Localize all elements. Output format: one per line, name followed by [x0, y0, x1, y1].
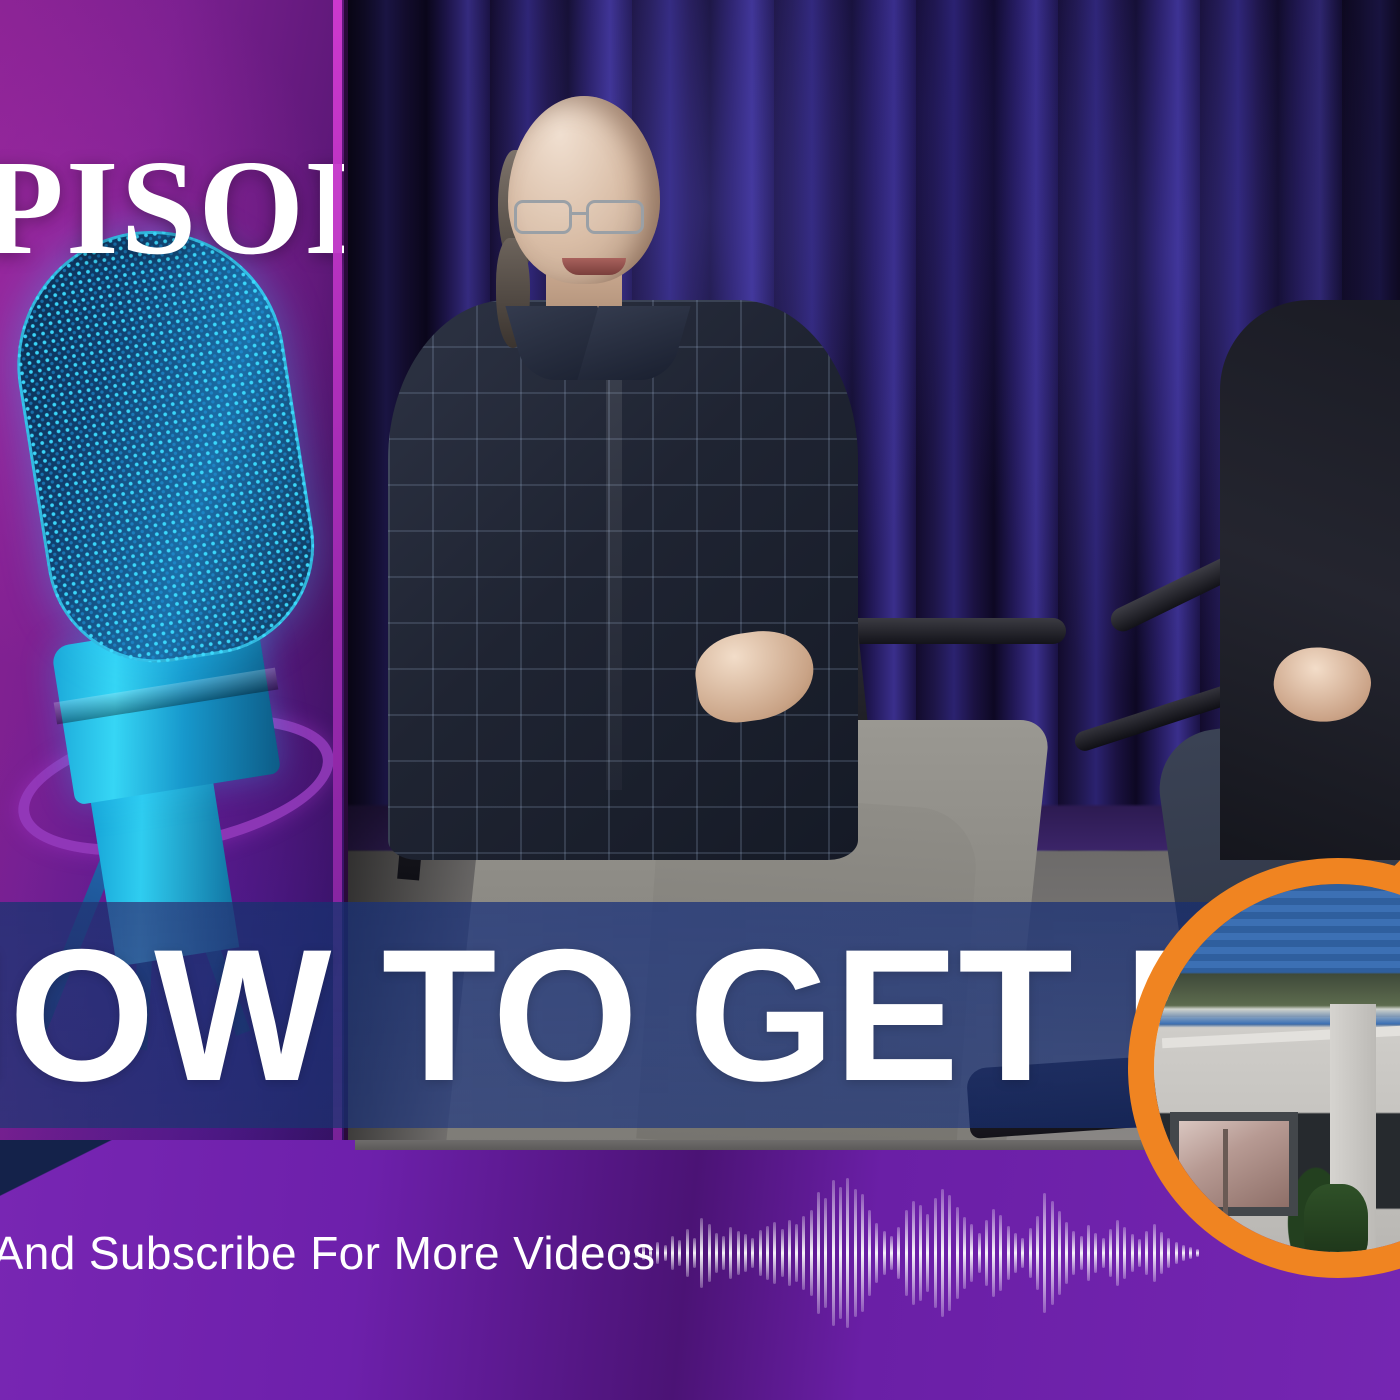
waveform-bar: [656, 1242, 659, 1264]
waveform-bar: [708, 1224, 711, 1282]
waveform-bar: [686, 1229, 689, 1277]
waveform-bar: [737, 1231, 740, 1275]
waveform-bar: [1021, 1238, 1024, 1268]
waveform-bar: [1036, 1216, 1039, 1290]
waveform-bar: [671, 1236, 674, 1270]
waveform-bar: [875, 1223, 878, 1283]
footer-photo-edge: [355, 1140, 1160, 1150]
waveform-bar: [1058, 1211, 1061, 1295]
orange-ring-border: [1128, 858, 1400, 1278]
waveform-bar: [934, 1198, 937, 1308]
waveform-bar: [773, 1222, 776, 1284]
waveform-bar: [999, 1215, 1002, 1291]
waveform-bar: [992, 1209, 995, 1297]
waveform-bar: [678, 1240, 681, 1266]
waveform-bar: [905, 1210, 908, 1296]
studio-microphone-icon: [10, 230, 340, 930]
eyeglasses-icon: [510, 196, 660, 236]
waveform-bar: [795, 1224, 798, 1282]
guest-torso: [1220, 300, 1400, 860]
waveform-bar: [620, 1251, 623, 1255]
waveform-bar: [846, 1178, 849, 1328]
waveform-bar: [1094, 1233, 1097, 1273]
shirt-placket: [606, 330, 622, 790]
waveform-bar: [1007, 1226, 1010, 1280]
waveform-bar: [897, 1227, 900, 1279]
waveform-bar: [970, 1224, 973, 1282]
waveform-bar: [890, 1236, 893, 1270]
waveform-bar: [985, 1220, 988, 1286]
waveform-bar: [963, 1217, 966, 1289]
waveform-bar: [802, 1216, 805, 1290]
waveform-bar: [766, 1226, 769, 1280]
accent-circle: [1128, 858, 1400, 1278]
waveform-bar: [781, 1229, 784, 1277]
waveform-bar: [722, 1236, 725, 1270]
thumbnail-canvas: EPISODE HOW TO GET MONEY Like And Subscr…: [0, 0, 1400, 1400]
waveform-bar: [854, 1189, 857, 1317]
waveform-bar: [759, 1230, 762, 1276]
waveform-bar: [926, 1214, 929, 1292]
waveform-bar: [1109, 1229, 1112, 1277]
waveform-bar: [868, 1210, 871, 1296]
waveform-bar: [912, 1201, 915, 1305]
plaid-shirt: [388, 300, 858, 860]
waveform-bar: [729, 1227, 732, 1279]
waveform-bar: [1029, 1228, 1032, 1278]
waveform-bar: [1043, 1193, 1046, 1313]
waveform-bar: [1087, 1225, 1090, 1281]
waveform-bar: [649, 1248, 652, 1258]
waveform-bar: [627, 1250, 630, 1256]
waveform-bar: [635, 1249, 638, 1258]
audio-waveform-icon: [620, 1178, 1200, 1328]
waveform-bar: [978, 1233, 981, 1273]
waveform-bar: [1051, 1201, 1054, 1305]
waveform-bar: [693, 1238, 696, 1268]
waveform-bar: [715, 1233, 718, 1273]
waveform-bar: [1123, 1227, 1126, 1279]
waveform-bar: [1116, 1220, 1119, 1286]
waveform-bar: [664, 1245, 667, 1261]
head: [508, 96, 660, 284]
waveform-bar: [941, 1189, 944, 1317]
waveform-bar: [788, 1220, 791, 1286]
waveform-bar: [744, 1234, 747, 1272]
waveform-bar: [883, 1231, 886, 1275]
waveform-bar: [817, 1192, 820, 1314]
waveform-bar: [751, 1238, 754, 1268]
waveform-bar: [700, 1218, 703, 1288]
waveform-bar: [956, 1207, 959, 1299]
waveform-bar: [839, 1187, 842, 1319]
waveform-bar: [948, 1195, 951, 1311]
waveform-bar: [1102, 1238, 1105, 1268]
waveform-bar: [1014, 1233, 1017, 1273]
subscribe-callout: Like And Subscribe For More Videos: [0, 1226, 655, 1280]
episode-wordmark: EPISODE: [0, 140, 344, 276]
waveform-bar: [1072, 1231, 1075, 1275]
waveform-bar: [1080, 1236, 1083, 1270]
smile: [562, 258, 626, 275]
waveform-bar: [1065, 1222, 1068, 1284]
waveform-bar: [919, 1205, 922, 1301]
waveform-bar: [824, 1198, 827, 1308]
waveform-bar: [810, 1210, 813, 1296]
footer-corner-wedge: [0, 1140, 120, 1200]
waveform-bar: [642, 1246, 645, 1260]
waveform-bar: [832, 1180, 835, 1326]
waveform-bar: [861, 1194, 864, 1312]
